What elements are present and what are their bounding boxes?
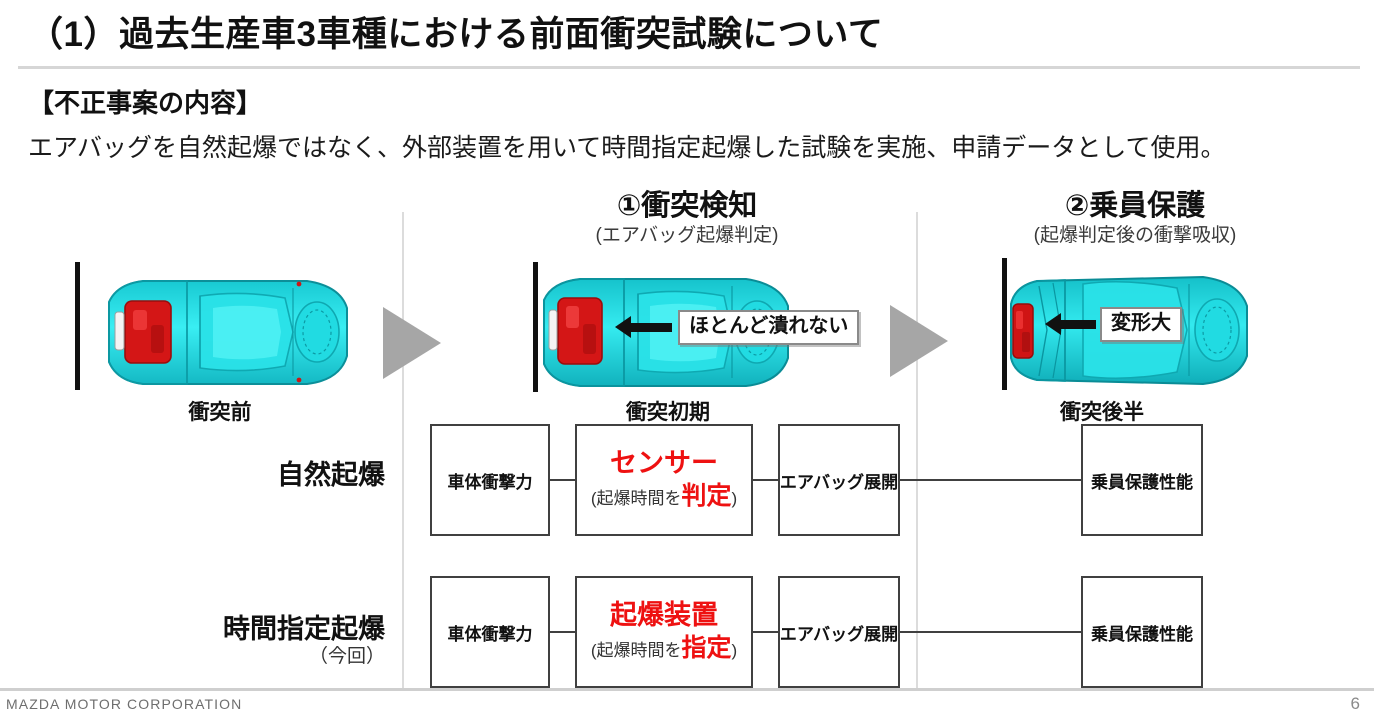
- callout-early-crash: ほとんど潰れない: [678, 310, 859, 345]
- car-illustration-before-crash: [95, 268, 360, 401]
- slide-canvas: （1）過去生産車3車種における前面衝突試験について 【不正事案の内容】 エアバッ…: [0, 0, 1374, 716]
- footer-page-number: 6: [1351, 694, 1360, 714]
- stage-label-early-crash: 衝突初期: [578, 396, 758, 426]
- car-top-view-icon: [95, 268, 360, 396]
- flow-connector: [550, 631, 575, 633]
- note-prefix: (起爆時間を: [591, 489, 682, 508]
- note-suffix: ): [732, 489, 738, 508]
- footer-brand: MAZDA MOTOR CORPORATION: [6, 696, 242, 712]
- flow-box-body-impact-force: 車体衝撃力: [430, 576, 550, 688]
- column-header-sub: (起爆判定後の衝撃吸収): [975, 224, 1295, 249]
- flow-connector: [550, 479, 575, 481]
- arrow-right-icon: [890, 305, 948, 377]
- arrow-left-small-icon: [630, 323, 672, 332]
- flow-connector: [900, 631, 1081, 633]
- flow-box-airbag-deployment: エアバッグ展開: [778, 576, 900, 688]
- flow-box-label: エアバッグ展開: [780, 620, 898, 645]
- arrow-left-small-icon: [1060, 320, 1096, 329]
- column-divider-2: [916, 212, 918, 690]
- column-header-occupant-protection: ②乗員保護 (起爆判定後の衝撃吸収): [975, 190, 1295, 249]
- column-header-sub: (エアバッグ起爆判定): [527, 224, 847, 249]
- flow-box-detonator-device: 起爆装置 (起爆時間を指定): [575, 576, 753, 688]
- flow-box-label: 乗員保護性能: [1091, 468, 1193, 493]
- footer-divider: [0, 688, 1374, 691]
- note-prefix: (起爆時間を: [591, 641, 682, 660]
- flow-box-accent-label: センサー: [610, 449, 718, 479]
- row-label-main: 時間指定起爆: [70, 614, 385, 645]
- flow-box-occupant-protection-performance: 乗員保護性能: [1081, 576, 1203, 688]
- stage-label-before-crash: 衝突前: [130, 396, 310, 426]
- row-label-time-specified-deployment: 時間指定起爆 （今回）: [70, 614, 385, 669]
- column-divider-1: [402, 212, 404, 690]
- barrier-icon: [75, 262, 80, 390]
- note-highlight: 指定: [681, 634, 731, 662]
- flow-box-label: 乗員保護性能: [1091, 620, 1193, 645]
- flow-box-body-impact-force: 車体衝撃力: [430, 424, 550, 536]
- stage-label-late-crash: 衝突後半: [1012, 396, 1192, 426]
- flow-box-label: エアバッグ展開: [780, 468, 898, 493]
- note-suffix: ): [732, 641, 738, 660]
- flow-box-occupant-protection-performance: 乗員保護性能: [1081, 424, 1203, 536]
- row-label-main: 自然起爆: [70, 460, 385, 491]
- callout-late-crash: 変形大: [1100, 307, 1182, 342]
- title-divider: [18, 66, 1360, 69]
- column-header-main: ①衝突検知: [527, 190, 847, 222]
- flow-box-label: 車体衝撃力: [448, 620, 533, 645]
- flow-box-accent-label: 起爆装置: [610, 601, 718, 631]
- note-highlight: 判定: [681, 482, 731, 510]
- flow-box-airbag-deployment: エアバッグ展開: [778, 424, 900, 536]
- flow-box-note: (起爆時間を判定): [591, 482, 737, 511]
- flow-box-sensor: センサー (起爆時間を判定): [575, 424, 753, 536]
- flow-box-label: 車体衝撃力: [448, 468, 533, 493]
- flow-connector: [753, 479, 778, 481]
- lead-body: エアバッグを自然起爆ではなく、外部装置を用いて時間指定起爆した試験を実施、申請デ…: [28, 128, 1226, 164]
- arrow-right-icon: [383, 307, 441, 379]
- flow-box-note: (起爆時間を指定): [591, 634, 737, 663]
- lead-heading: 【不正事案の内容】: [28, 83, 262, 120]
- flow-connector: [900, 479, 1081, 481]
- row-label-sub: （今回）: [70, 645, 385, 669]
- row-label-natural-deployment: 自然起爆: [70, 460, 385, 491]
- column-header-main: ②乗員保護: [975, 190, 1295, 222]
- flow-connector: [753, 631, 778, 633]
- page-title: （1）過去生産車3車種における前面衝突試験について: [28, 6, 883, 57]
- column-header-collision-detection: ①衝突検知 (エアバッグ起爆判定): [527, 190, 847, 249]
